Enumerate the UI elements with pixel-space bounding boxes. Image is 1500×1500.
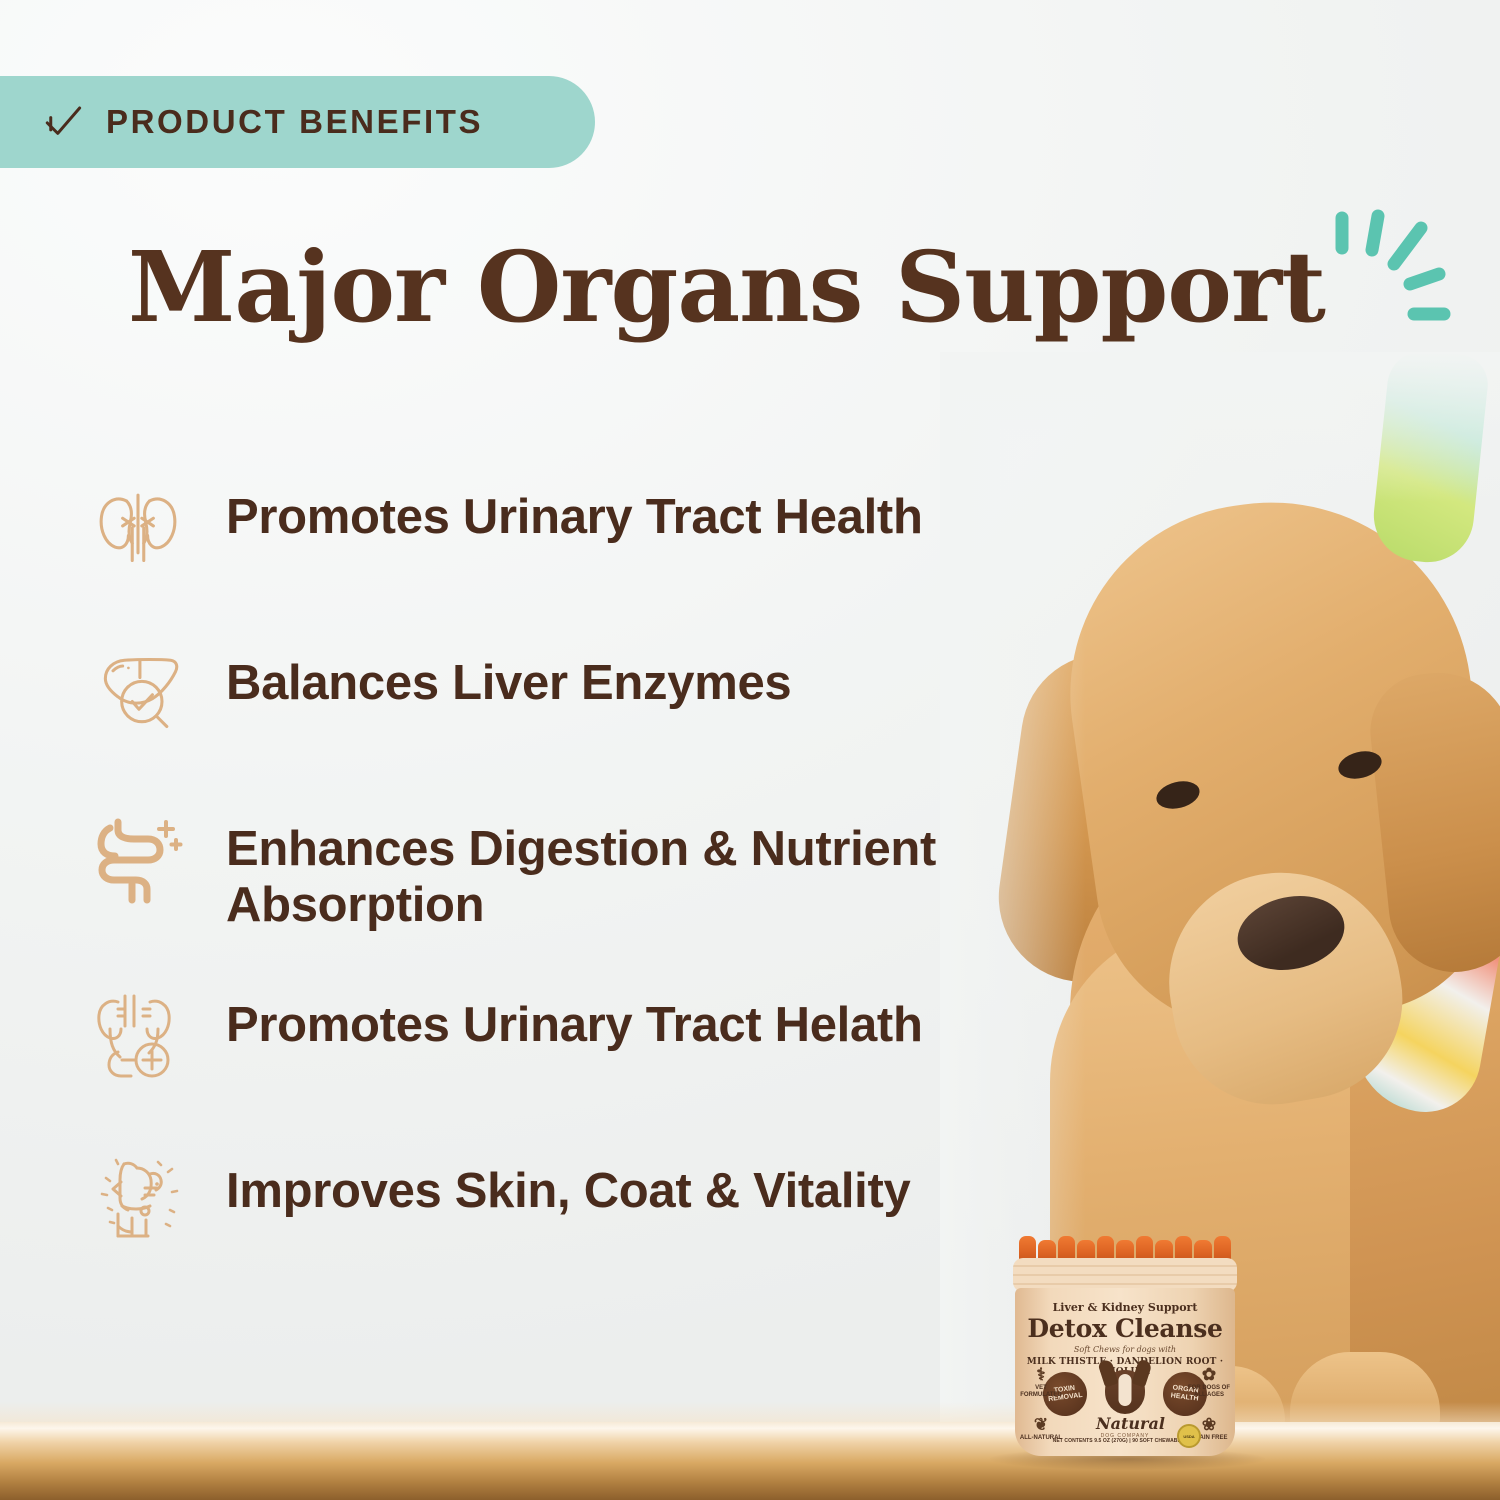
benefit-label: Promotes Urinary Tract Helath <box>226 978 923 1054</box>
check-icon <box>42 101 84 143</box>
brand-dog-icon <box>1105 1370 1145 1414</box>
label-title: Detox Cleanse <box>1015 1314 1235 1343</box>
product-benefits-badge: PRODUCT BENEFITS <box>0 76 595 168</box>
caduceus-icon: ⚕ <box>1017 1366 1065 1383</box>
jar-label: Liver & Kidney Support Detox Cleanse Sof… <box>1015 1288 1235 1456</box>
leaf-icon: ❦ <box>1017 1416 1065 1433</box>
benefit-item: Promotes Urinary Tract Health <box>78 470 1088 578</box>
benefit-label: Balances Liver Enzymes <box>226 636 791 712</box>
paw-icon: ✿ <box>1185 1366 1233 1383</box>
benefit-item: Balances Liver Enzymes <box>78 636 1088 744</box>
vet-formulated-badge: ⚕ VET FORMULATED <box>1017 1366 1065 1399</box>
benefits-list: Promotes Urinary Tract Health Balances <box>78 470 1088 1310</box>
jar-lid <box>1013 1258 1237 1292</box>
benefit-item: Promotes Urinary Tract Helath <box>78 978 1088 1086</box>
intestines-sparkle-icon <box>78 802 198 910</box>
net-contents: NET CONTENTS 9.5 OZ (270G) | 90 SOFT CHE… <box>1015 1438 1235 1444</box>
urinary-cross-icon <box>78 978 198 1086</box>
benefit-item: Enhances Digestion & Nutrient Absorption <box>78 802 1088 934</box>
infographic-canvas: PRODUCT BENEFITS Major Organs Support <box>0 0 1500 1500</box>
product-benefits-label: PRODUCT BENEFITS <box>106 103 483 141</box>
brand-name: Natural <box>1096 1416 1154 1432</box>
product-jar: Liver & Kidney Support Detox Cleanse Sof… <box>1005 1232 1245 1460</box>
brand-logo: Natural DOG COMPANY <box>1096 1370 1154 1439</box>
benefit-label: Enhances Digestion & Nutrient Absorption <box>226 802 1088 934</box>
wooden-shelf <box>0 1422 1500 1500</box>
benefit-label: Promotes Urinary Tract Health <box>226 470 923 546</box>
benefit-item: Improves Skin, Coat & Vitality <box>78 1144 1088 1252</box>
sparkle-rays-icon <box>1316 202 1500 352</box>
usda-organic-seal: USDA <box>1177 1424 1201 1448</box>
all-ages-badge: ✿ FOR DOGS OF ALL AGES <box>1185 1366 1233 1399</box>
kidneys-icon <box>78 470 198 578</box>
page-title: Major Organs Support <box>128 238 1325 337</box>
label-supertitle: Liver & Kidney Support <box>1015 1301 1235 1314</box>
happy-dog-icon <box>78 1144 198 1252</box>
label-subtitle: Soft Chews for dogs with <box>1015 1345 1235 1354</box>
liver-magnifier-icon <box>78 636 198 744</box>
benefit-label: Improves Skin, Coat & Vitality <box>226 1144 910 1220</box>
